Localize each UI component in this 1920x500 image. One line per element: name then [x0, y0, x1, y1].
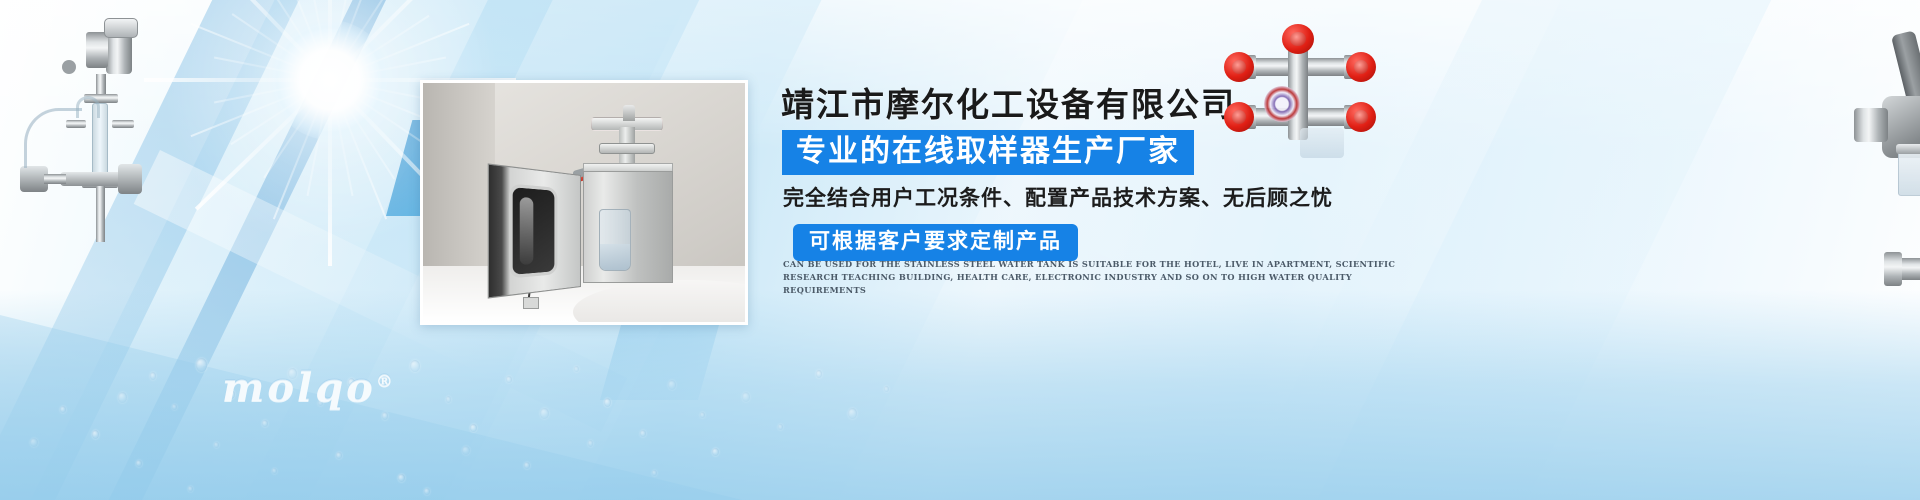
sampler-cabinet-photo [420, 80, 748, 325]
watermark-text: molqo [222, 364, 376, 411]
subline-text: 完全结合用户工况条件、配置产品技术方案、无后顾之忧 [783, 182, 1333, 212]
water-droplet-icon [700, 412, 705, 418]
water-droplet-icon [574, 366, 579, 372]
water-droplet-icon [196, 358, 207, 372]
water-droplet-icon [188, 486, 193, 492]
sun-ray [144, 78, 330, 82]
water-droplet-icon [336, 452, 342, 459]
water-droplet-icon [848, 408, 857, 419]
water-droplet-icon [262, 420, 268, 427]
water-droplet-icon [470, 424, 477, 432]
red-handwheel [1346, 102, 1376, 132]
cta-button[interactable]: 可根据客户要求定制产品 [793, 224, 1078, 261]
water-droplet-icon [462, 446, 470, 455]
red-handwheel [1282, 24, 1314, 54]
water-droplet-icon [424, 488, 430, 495]
water-droplet-icon [172, 404, 177, 410]
red-handwheel [1224, 52, 1254, 82]
headline-text: 专业的在线取样器生产厂家 [796, 134, 1180, 169]
water-droplet-icon [92, 430, 99, 439]
water-droplet-icon [136, 460, 142, 467]
water-droplet-icon [30, 438, 38, 447]
sample-bottle [599, 209, 631, 271]
water-droplet-icon [150, 372, 156, 380]
water-droplet-icon [382, 412, 388, 420]
water-droplet-icon [214, 442, 219, 448]
water-droplet-icon [640, 430, 646, 437]
water-droplet-icon [604, 398, 611, 407]
red-handwheel [1346, 52, 1376, 82]
fineprint-text: CAN BE USED FOR THE STAINLESS STEEL WATE… [783, 258, 1403, 297]
water-droplet-icon [272, 468, 277, 474]
water-droplet-icon [506, 376, 512, 383]
water-droplet-icon [668, 380, 676, 390]
quality-seal [1264, 86, 1300, 122]
water-droplet-icon [524, 462, 530, 469]
water-droplet-icon [60, 406, 66, 413]
water-droplet-icon [712, 448, 719, 456]
water-droplet-icon [410, 360, 420, 372]
valve-flange [599, 143, 655, 154]
cta-label: 可根据客户要求定制产品 [809, 229, 1062, 253]
water-droplet-icon [816, 370, 822, 378]
valve-knob [623, 105, 635, 121]
red-handwheel [1224, 102, 1254, 132]
water-droplet-icon [652, 470, 657, 476]
cabinet-tag [523, 297, 539, 309]
water-droplet-icon [446, 396, 451, 403]
water-droplet-icon [398, 474, 405, 482]
promo-banner: 靖江市摩尔化工设备有限公司 专业的在线取样器生产厂家 完全结合用户工况条件、配置… [0, 0, 1920, 500]
water-droplet-icon [588, 440, 593, 447]
registered-mark-icon: ® [376, 372, 396, 392]
water-droplet-icon [778, 424, 783, 430]
water-droplet-icon [884, 386, 889, 392]
watermark-logo: molqo® [222, 364, 396, 411]
water-droplet-icon [540, 408, 549, 419]
water-droplet-icon [118, 392, 127, 403]
headline-highlight-bar: 专业的在线取样器生产厂家 [782, 130, 1194, 175]
cabinet-door [488, 163, 581, 298]
water-droplet-icon [742, 392, 750, 402]
door-window [509, 183, 557, 278]
sun-ray [328, 80, 332, 266]
company-name: 靖江市摩尔化工设备有限公司 [781, 78, 1236, 126]
